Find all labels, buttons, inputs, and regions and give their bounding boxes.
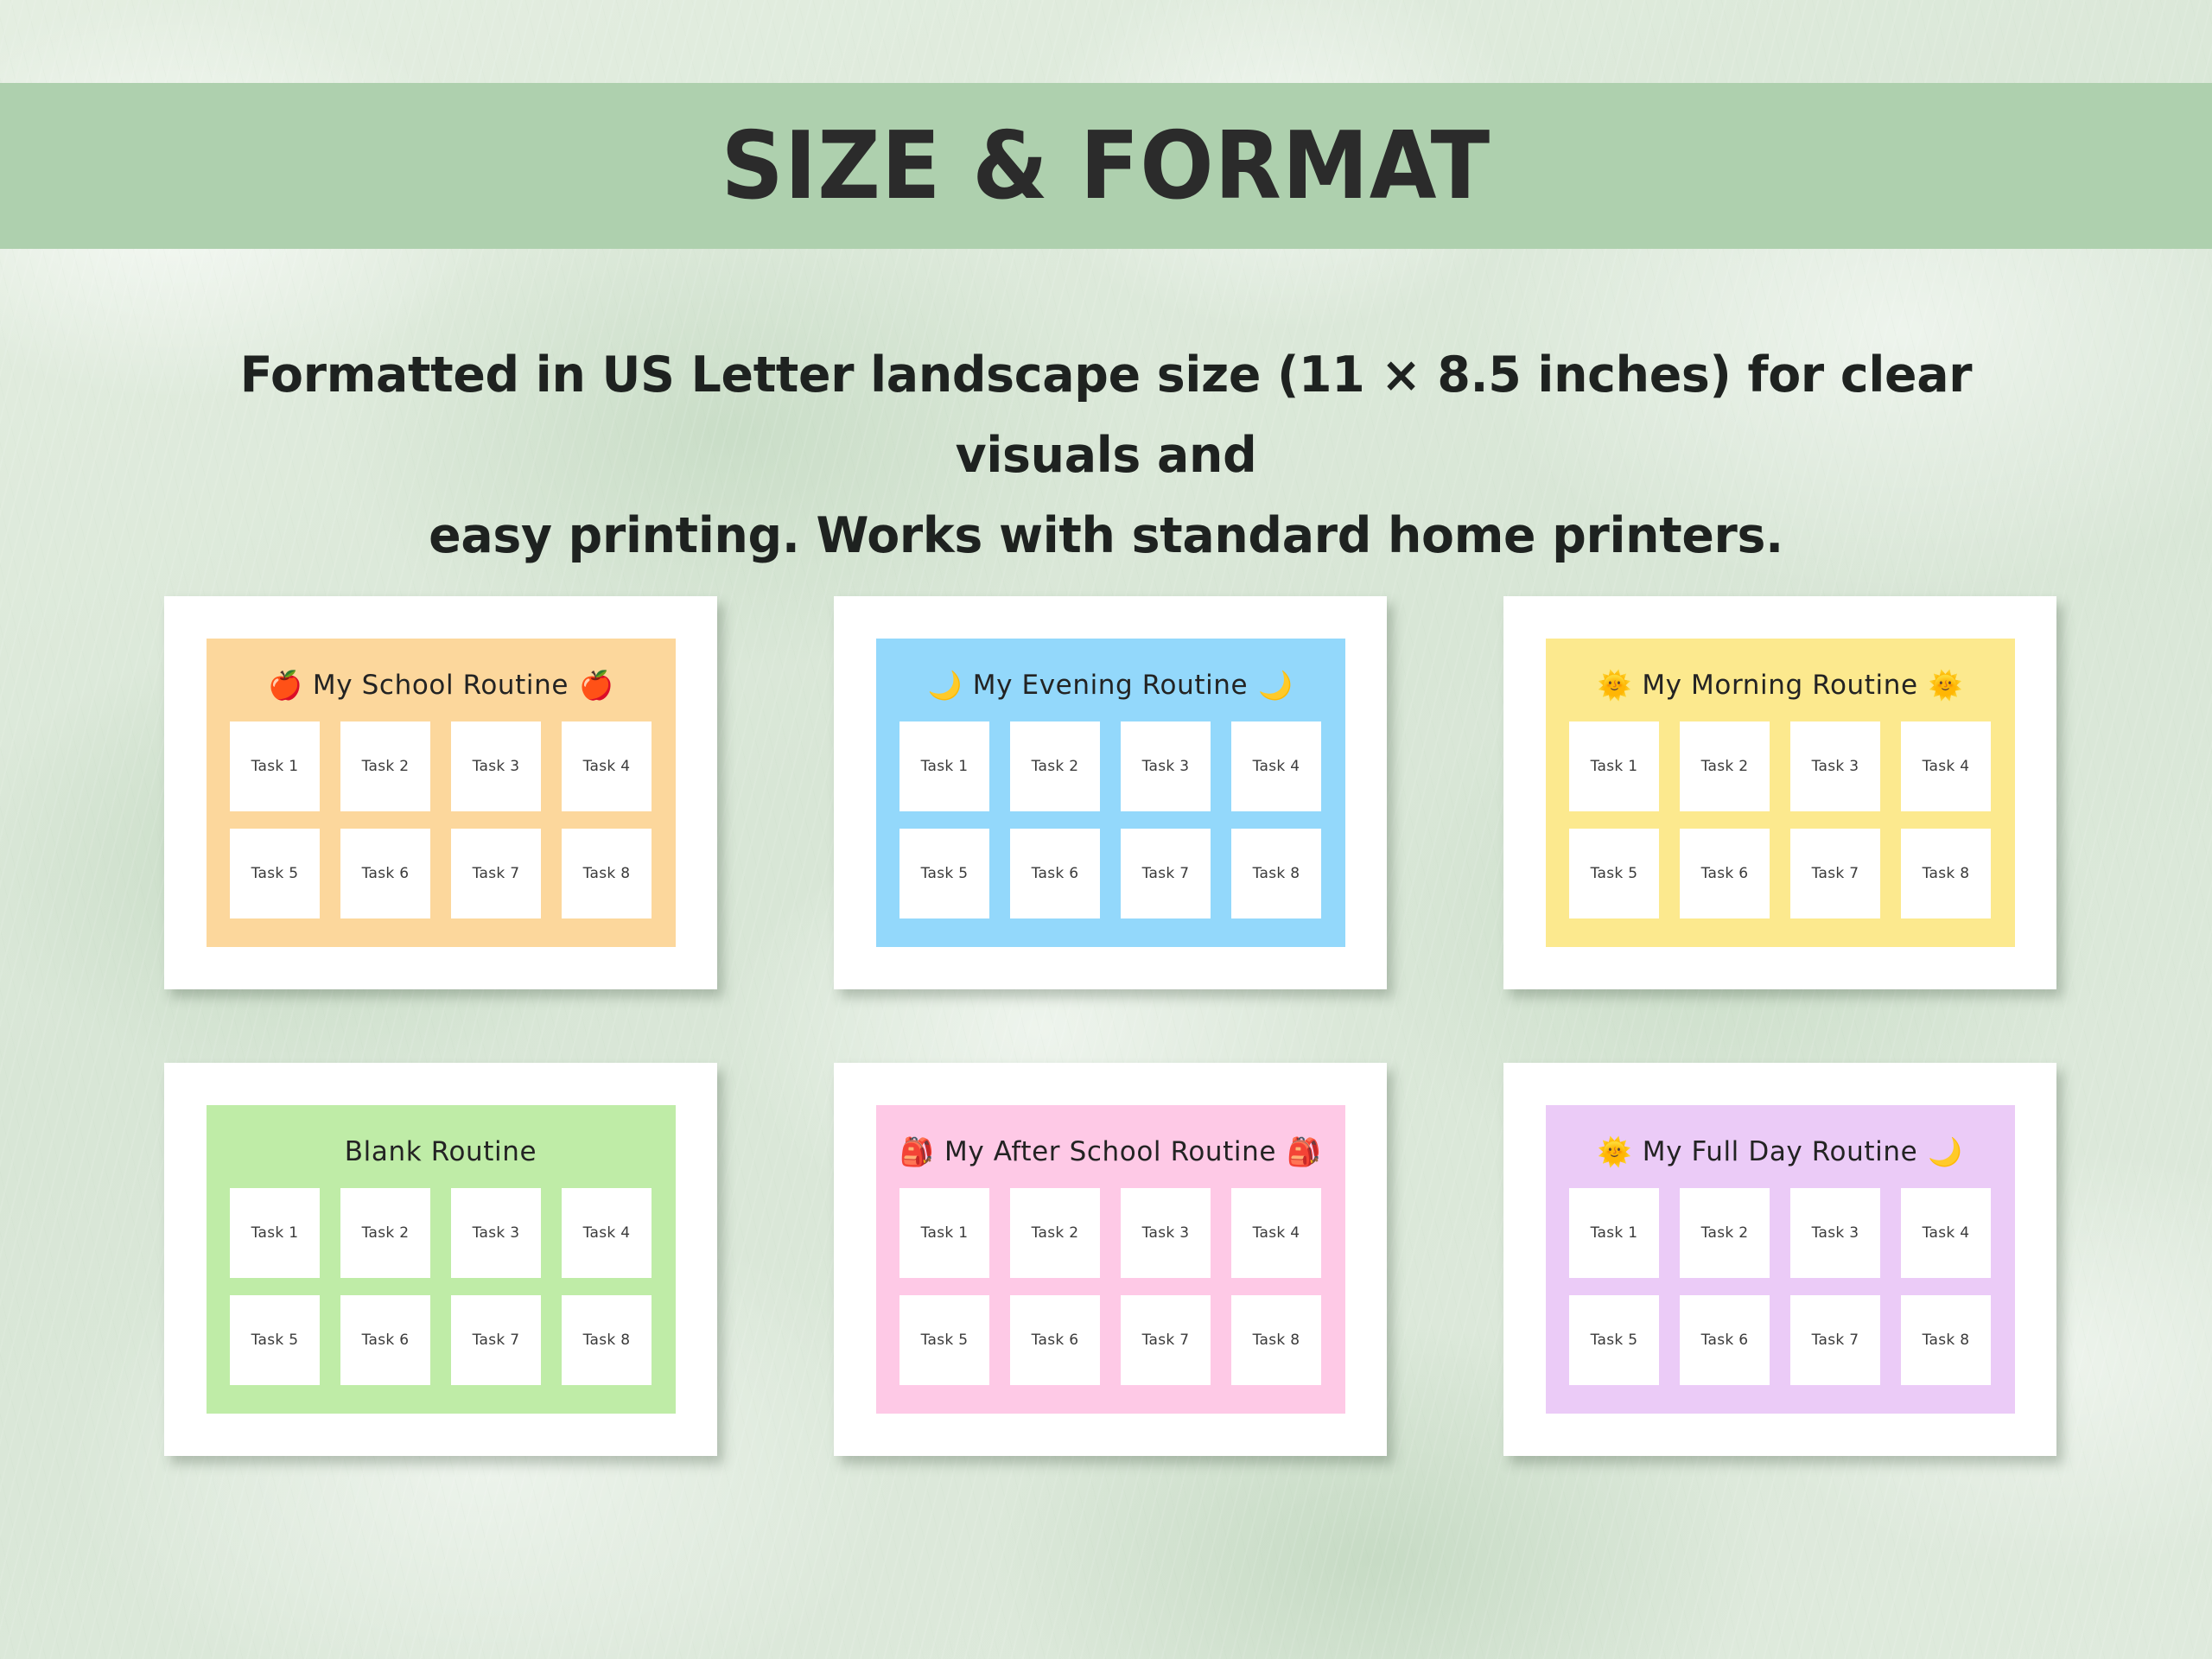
- task-card[interactable]: Task 2: [340, 721, 430, 811]
- task-card[interactable]: Task 8: [1231, 829, 1321, 918]
- task-card[interactable]: Task 1: [899, 721, 989, 811]
- task-card[interactable]: Task 6: [1680, 1295, 1770, 1385]
- routine-sheet[interactable]: 🍎My School Routine🍎Task 1Task 2Task 3Tas…: [164, 596, 717, 989]
- routine-card-grid: 🍎My School Routine🍎Task 1Task 2Task 3Tas…: [164, 596, 2056, 1456]
- task-card[interactable]: Task 4: [1231, 721, 1321, 811]
- task-card[interactable]: Task 8: [1231, 1295, 1321, 1385]
- task-grid: Task 1Task 2Task 3Task 4Task 5Task 6Task…: [1569, 1188, 1991, 1385]
- routine-sheet[interactable]: 🌞My Full Day Routine🌙Task 1Task 2Task 3T…: [1503, 1063, 2056, 1456]
- routine-title-row: Blank Routine: [334, 1128, 547, 1176]
- task-card[interactable]: Task 1: [230, 1188, 320, 1278]
- routine-title: My Evening Routine: [973, 670, 1248, 701]
- intro-paragraph: Formatted in US Letter landscape size (1…: [112, 335, 2100, 576]
- task-grid: Task 1Task 2Task 3Task 4Task 5Task 6Task…: [1569, 721, 1991, 918]
- task-card[interactable]: Task 3: [451, 721, 541, 811]
- routine-title-row: 🍎My School Routine🍎: [268, 661, 613, 709]
- task-card[interactable]: Task 5: [230, 1295, 320, 1385]
- intro-line-1: Formatted in US Letter landscape size (1…: [143, 335, 2070, 496]
- apple-icon: 🍎: [579, 671, 613, 699]
- task-grid: Task 1Task 2Task 3Task 4Task 5Task 6Task…: [899, 721, 1321, 918]
- routine-panel: 🌙My Evening Routine🌙Task 1Task 2Task 3Ta…: [876, 639, 1345, 947]
- task-card[interactable]: Task 7: [1121, 1295, 1211, 1385]
- routine-sheet[interactable]: 🌞My Morning Routine🌞Task 1Task 2Task 3Ta…: [1503, 596, 2056, 989]
- task-card[interactable]: Task 2: [1680, 1188, 1770, 1278]
- routine-title: My Full Day Routine: [1643, 1136, 1918, 1167]
- task-card[interactable]: Task 4: [562, 721, 652, 811]
- task-card[interactable]: Task 4: [562, 1188, 652, 1278]
- task-card[interactable]: Task 7: [451, 1295, 541, 1385]
- task-card[interactable]: Task 3: [1121, 1188, 1211, 1278]
- routine-sheet[interactable]: 🌙My Evening Routine🌙Task 1Task 2Task 3Ta…: [834, 596, 1387, 989]
- task-card[interactable]: Task 7: [1121, 829, 1211, 918]
- task-card[interactable]: Task 5: [1569, 829, 1659, 918]
- task-card[interactable]: Task 1: [230, 721, 320, 811]
- routine-title: My After School Routine: [944, 1136, 1276, 1167]
- routine-title-row: 🎒My After School Routine🎒: [899, 1128, 1321, 1176]
- routine-panel: 🍎My School Routine🍎Task 1Task 2Task 3Tas…: [207, 639, 676, 947]
- task-card[interactable]: Task 8: [1901, 829, 1991, 918]
- routine-panel: 🌞My Full Day Routine🌙Task 1Task 2Task 3T…: [1546, 1105, 2015, 1414]
- routine-title-row: 🌞My Morning Routine🌞: [1597, 661, 1962, 709]
- crescent-moon-icon: 🌙: [1928, 1138, 1962, 1166]
- task-card[interactable]: Task 1: [899, 1188, 989, 1278]
- task-card[interactable]: Task 6: [340, 829, 430, 918]
- backpack-icon: 🎒: [1287, 1138, 1321, 1166]
- routine-title-row: 🌞My Full Day Routine🌙: [1598, 1128, 1962, 1176]
- task-card[interactable]: Task 3: [1790, 721, 1880, 811]
- task-card[interactable]: Task 1: [1569, 721, 1659, 811]
- task-grid: Task 1Task 2Task 3Task 4Task 5Task 6Task…: [230, 1188, 652, 1385]
- task-card[interactable]: Task 4: [1231, 1188, 1321, 1278]
- crescent-moon-icon: 🌙: [928, 671, 963, 699]
- task-card[interactable]: Task 2: [1010, 721, 1100, 811]
- task-card[interactable]: Task 6: [340, 1295, 430, 1385]
- routine-sheet[interactable]: 🎒My After School Routine🎒Task 1Task 2Tas…: [834, 1063, 1387, 1456]
- sun-with-sunglasses-icon: 🌞: [1929, 671, 1963, 699]
- task-card[interactable]: Task 1: [1569, 1188, 1659, 1278]
- crescent-moon-icon: 🌙: [1258, 671, 1293, 699]
- task-card[interactable]: Task 5: [899, 1295, 989, 1385]
- task-card[interactable]: Task 2: [340, 1188, 430, 1278]
- apple-icon: 🍎: [268, 671, 302, 699]
- task-card[interactable]: Task 5: [899, 829, 989, 918]
- task-card[interactable]: Task 8: [562, 829, 652, 918]
- task-card[interactable]: Task 3: [451, 1188, 541, 1278]
- task-card[interactable]: Task 3: [1121, 721, 1211, 811]
- sun-with-sunglasses-icon: 🌞: [1597, 671, 1631, 699]
- backpack-icon: 🎒: [899, 1138, 934, 1166]
- task-card[interactable]: Task 6: [1010, 829, 1100, 918]
- intro-line-2: easy printing. Works with standard home …: [143, 496, 2070, 576]
- routine-panel: Blank RoutineTask 1Task 2Task 3Task 4Tas…: [207, 1105, 676, 1414]
- routine-title: Blank Routine: [345, 1136, 537, 1167]
- task-card[interactable]: Task 4: [1901, 1188, 1991, 1278]
- routine-sheet[interactable]: Blank RoutineTask 1Task 2Task 3Task 4Tas…: [164, 1063, 717, 1456]
- header-band: SIZE & FORMAT: [0, 83, 2212, 249]
- task-card[interactable]: Task 8: [1901, 1295, 1991, 1385]
- task-card[interactable]: Task 4: [1901, 721, 1991, 811]
- task-card[interactable]: Task 6: [1680, 829, 1770, 918]
- task-card[interactable]: Task 7: [1790, 1295, 1880, 1385]
- routine-panel: 🎒My After School Routine🎒Task 1Task 2Tas…: [876, 1105, 1345, 1414]
- task-card[interactable]: Task 2: [1010, 1188, 1100, 1278]
- routine-title: My Morning Routine: [1642, 670, 1917, 701]
- task-card[interactable]: Task 7: [1790, 829, 1880, 918]
- task-card[interactable]: Task 5: [1569, 1295, 1659, 1385]
- page-title: SIZE & FORMAT: [721, 112, 1491, 220]
- task-card[interactable]: Task 2: [1680, 721, 1770, 811]
- task-grid: Task 1Task 2Task 3Task 4Task 5Task 6Task…: [230, 721, 652, 918]
- sun-with-sunglasses-icon: 🌞: [1598, 1138, 1632, 1166]
- task-card[interactable]: Task 6: [1010, 1295, 1100, 1385]
- task-card[interactable]: Task 8: [562, 1295, 652, 1385]
- routine-panel: 🌞My Morning Routine🌞Task 1Task 2Task 3Ta…: [1546, 639, 2015, 947]
- routine-title-row: 🌙My Evening Routine🌙: [928, 661, 1293, 709]
- task-grid: Task 1Task 2Task 3Task 4Task 5Task 6Task…: [899, 1188, 1321, 1385]
- task-card[interactable]: Task 5: [230, 829, 320, 918]
- routine-title: My School Routine: [313, 670, 569, 701]
- task-card[interactable]: Task 3: [1790, 1188, 1880, 1278]
- task-card[interactable]: Task 7: [451, 829, 541, 918]
